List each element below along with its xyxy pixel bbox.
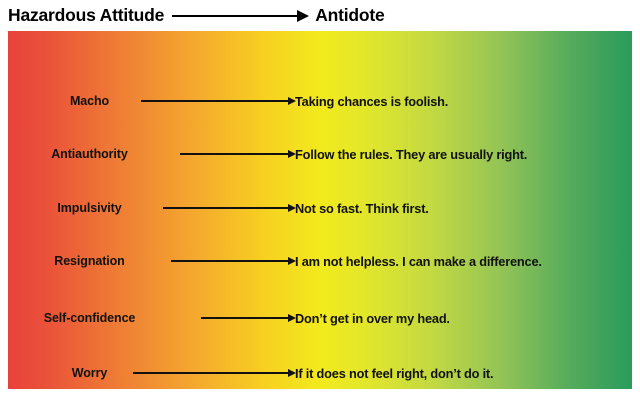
antidote-label: Follow the rules. They are usually right… <box>295 147 527 162</box>
antidote-label: Not so fast. Think first. <box>295 201 429 216</box>
table-row: Antiauthority Follow the rules. They are… <box>8 143 632 165</box>
table-row: Impulsivity Not so fast. Think first. <box>8 197 632 219</box>
arrow-shaft <box>133 372 289 373</box>
row-arrow-icon <box>171 256 296 266</box>
diagram-header: Hazardous Attitude Antidote <box>8 0 632 31</box>
row-arrow-icon <box>201 313 296 323</box>
antidote-label: If it does not feel right, don’t do it. <box>295 366 493 381</box>
arrow-shaft <box>201 317 289 318</box>
arrow-shaft <box>141 100 289 101</box>
arrow-shaft <box>172 15 300 17</box>
row-arrow-icon <box>163 203 296 213</box>
row-arrow-icon <box>180 149 296 159</box>
arrow-shaft <box>163 207 289 208</box>
attitude-label: Self-confidence <box>8 311 171 325</box>
header-hazardous-attitude-label: Hazardous Attitude <box>8 5 164 26</box>
table-row: Worry If it does not feel right, don’t d… <box>8 362 632 384</box>
row-arrow-icon <box>141 96 296 106</box>
antidote-label: Taking chances is foolish. <box>295 94 448 109</box>
antidote-label: I am not helpless. I can make a differen… <box>295 254 542 269</box>
arrow-shaft <box>171 260 289 261</box>
row-arrow-icon <box>133 368 296 378</box>
header-antidote-label: Antidote <box>315 5 384 26</box>
table-row: Resignation I am not helpless. I can mak… <box>8 250 632 272</box>
gradient-band: Macho Taking chances is foolish. Antiaut… <box>8 31 632 389</box>
arrow-head <box>297 10 309 22</box>
table-row: Macho Taking chances is foolish. <box>8 90 632 112</box>
arrow-shaft <box>180 153 289 154</box>
table-row: Self-confidence Don’t get in over my hea… <box>8 307 632 329</box>
attitude-label: Antiauthority <box>8 147 171 161</box>
antidote-label: Don’t get in over my head. <box>295 311 450 326</box>
attitude-label: Resignation <box>8 254 171 268</box>
attitude-label: Impulsivity <box>8 201 171 215</box>
right-arrow-icon <box>172 9 309 23</box>
